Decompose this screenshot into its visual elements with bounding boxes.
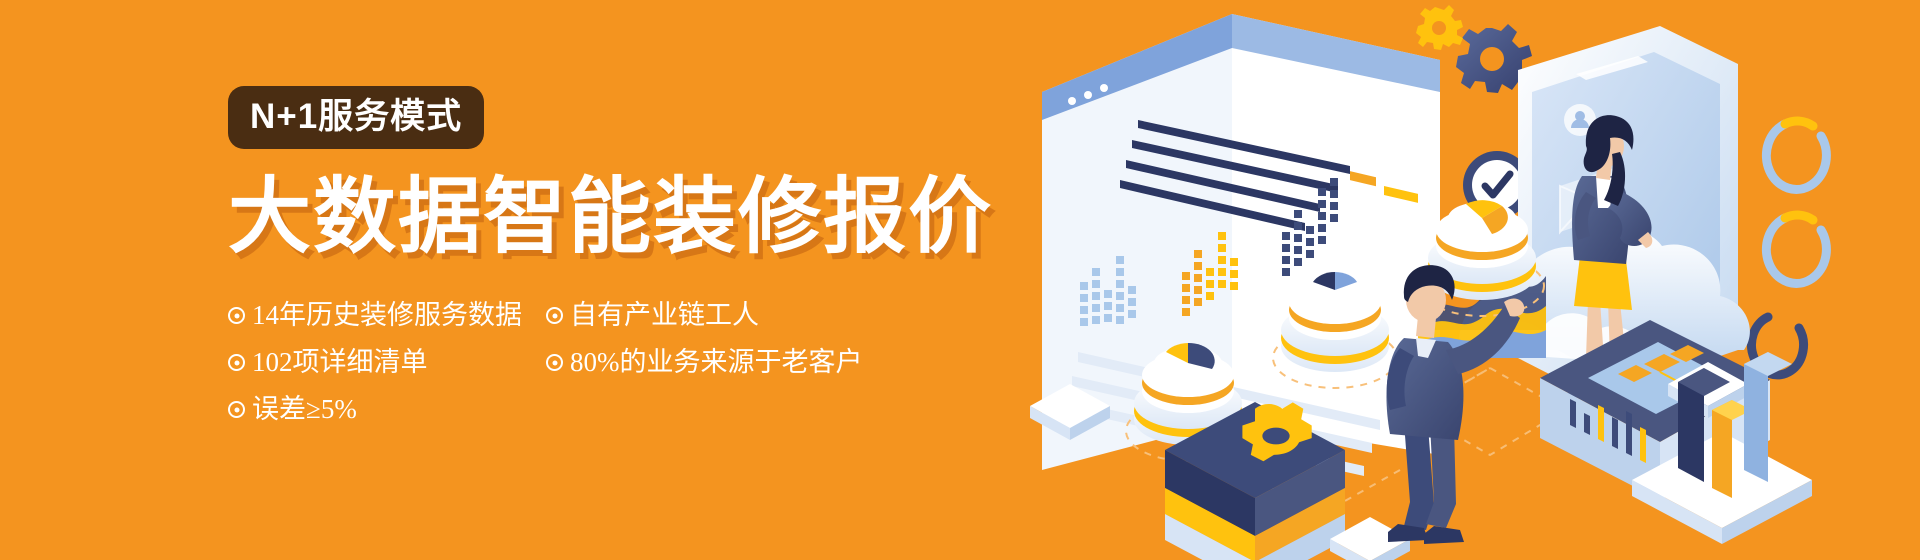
big-data-isometric-illustration [1020,0,1920,560]
gear-icon-small [1416,5,1463,50]
circle-dot-icon [546,354,563,371]
list-item: 102项详细清单 [228,349,546,376]
promo-banner: N+1服务模式 大数据智能装修报价 14年历史装修服务数据 自有产业链工人 10… [0,0,1920,560]
list-item: 80%的业务来源于老客户 [546,349,1048,376]
list-item: 误差≥5% [228,396,546,423]
list-item-label: 自有产业链工人 [570,302,759,329]
circular-arrow-rings-icon [1752,121,1827,375]
list-item: 自有产业链工人 [546,302,1048,329]
circle-dot-icon [546,307,563,324]
banner-copy: N+1服务模式 大数据智能装修报价 14年历史装修服务数据 自有产业链工人 10… [228,86,1048,433]
circle-dot-icon [228,354,245,371]
window-dot-1 [1068,97,1076,105]
window-dot-2 [1084,91,1092,99]
feature-list: 14年历史装修服务数据 自有产业链工人 102项详细清单 80%的业务来源于老客… [228,292,1048,433]
circle-dot-icon [228,401,245,418]
service-model-badge: N+1服务模式 [228,86,484,149]
window-dot-3 [1100,84,1108,92]
list-item-label: 误差≥5% [252,396,357,423]
list-item-label: 14年历史装修服务数据 [252,302,522,329]
circle-dot-icon [228,307,245,324]
list-item-label: 102项详细清单 [252,349,428,376]
list-item-label: 80%的业务来源于老客户 [570,349,863,376]
page-title: 大数据智能装修报价 [228,175,1048,258]
list-item: 14年历史装修服务数据 [228,302,546,329]
